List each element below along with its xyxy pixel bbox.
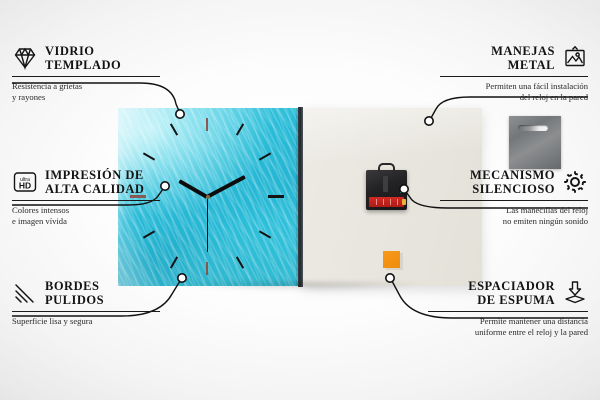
callout-description: Permite mantener una distancia uniforme … <box>428 316 588 338</box>
callout-description: Las manecillas del reloj no emiten ningú… <box>440 205 588 227</box>
clock-tick <box>206 262 208 275</box>
movement-shaft <box>383 176 388 192</box>
divider <box>428 311 588 312</box>
callout-title: MECANISMO SILENCIOSO <box>440 168 555 196</box>
clock-center-pivot <box>206 195 210 199</box>
clock-tick <box>236 123 244 135</box>
callout-title: BORDES PULIDOS <box>45 279 104 307</box>
callout-mecanismo-silencioso[interactable]: MECANISMO SILENCIOSO Las manecillas del … <box>440 168 588 227</box>
movement-hook <box>378 163 395 172</box>
clock-tick <box>268 195 284 198</box>
callout-manejas-metal[interactable]: MANEJAS METAL Permiten una fácil instala… <box>440 44 588 103</box>
divider <box>440 76 588 77</box>
clock-second-hand <box>207 197 209 252</box>
divider <box>12 311 160 312</box>
clock-movement <box>366 170 407 210</box>
callout-title: VIDRIO TEMPLADO <box>45 44 121 72</box>
clock-hour-hand <box>178 179 208 198</box>
polished-edges-icon <box>12 280 38 306</box>
divider <box>12 76 160 77</box>
movement-led <box>400 190 404 193</box>
clock-tick <box>236 256 244 268</box>
diamond-icon <box>12 45 38 71</box>
clock-tick <box>206 118 208 131</box>
callout-impresion-alta-calidad[interactable]: ultra HD IMPRESIÓN DE ALTA CALIDAD Color… <box>12 168 160 227</box>
clock-minute-hand <box>206 175 246 199</box>
callout-description: Resistencia a grietas y rayones <box>12 81 160 103</box>
callout-bordes-pulidos[interactable]: BORDES PULIDOS Superficie lisa y segura <box>12 279 160 327</box>
divider <box>12 200 160 201</box>
foam-spacer-icon <box>562 280 588 306</box>
callout-title: MANEJAS METAL <box>440 44 555 72</box>
foam-spacer <box>383 251 400 268</box>
callout-vidrio-templado[interactable]: VIDRIO TEMPLADO Resistencia a grietas y … <box>12 44 160 103</box>
clock-tick <box>143 230 155 238</box>
clock-tick <box>259 230 271 238</box>
callout-espaciador-espuma[interactable]: ESPACIADOR DE ESPUMA Permite mantener un… <box>428 279 588 338</box>
infographic-canvas: VIDRIO TEMPLADO Resistencia a grietas y … <box>0 0 600 400</box>
gear-icon <box>562 169 588 195</box>
wall-hanger-icon <box>562 45 588 71</box>
metal-hanger-plate <box>509 116 561 169</box>
callout-title: ESPACIADOR DE ESPUMA <box>428 279 555 307</box>
divider <box>440 200 588 201</box>
ultra-hd-icon: ultra HD <box>12 169 38 195</box>
battery <box>369 197 404 207</box>
callout-description: Superficie lisa y segura <box>12 316 160 327</box>
clock-tick <box>170 123 178 135</box>
callout-title: IMPRESIÓN DE ALTA CALIDAD <box>45 168 144 196</box>
clock-tick <box>170 256 178 268</box>
product-image <box>118 108 482 286</box>
callout-description: Permiten una fácil instalación del reloj… <box>440 81 588 103</box>
clock-tick <box>259 152 271 160</box>
callout-description: Colores intensos e imagen vívida <box>12 205 160 227</box>
hanger-slot <box>518 125 548 131</box>
svg-text:HD: HD <box>19 181 31 191</box>
clock-tick <box>143 152 155 160</box>
